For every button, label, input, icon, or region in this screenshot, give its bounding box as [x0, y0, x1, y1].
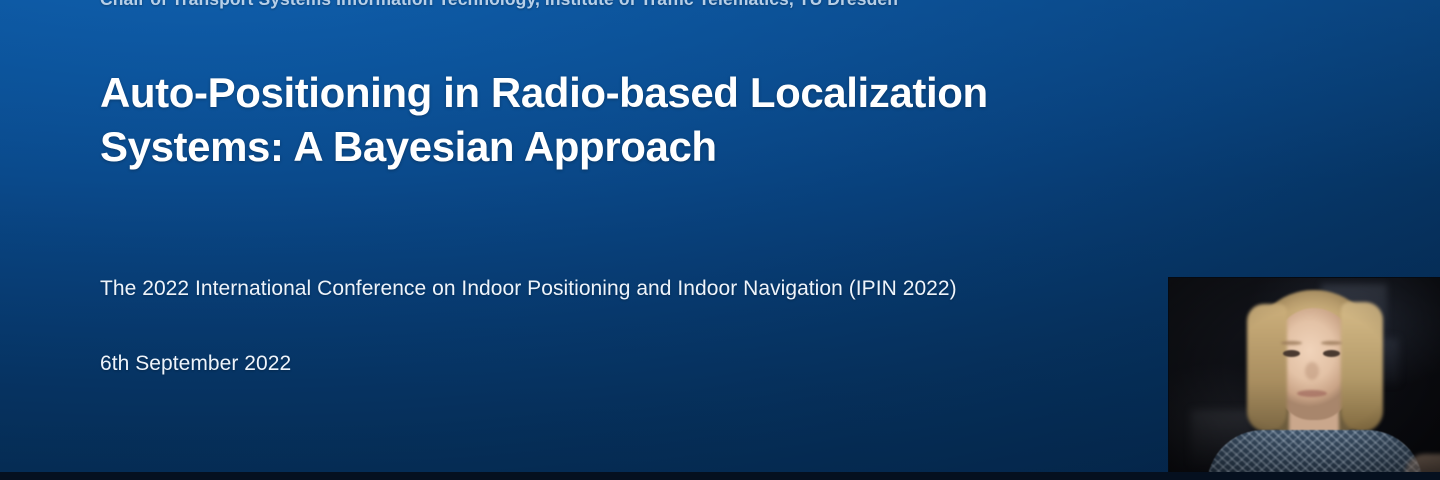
presenter-eye-left	[1283, 350, 1300, 357]
presentation-slide-viewport: Chair of Transport Systems Information T…	[0, 0, 1440, 480]
affiliation-line: Chair of Transport Systems Information T…	[100, 0, 1170, 10]
page-title-line-1: Auto-Positioning in Radio-based Localiza…	[100, 66, 1220, 120]
presenter-eye-right	[1323, 350, 1340, 357]
conference-name: The 2022 International Conference on Ind…	[100, 277, 957, 301]
presenter-webcam-panel[interactable]	[1168, 277, 1440, 480]
presenter-nose	[1305, 362, 1319, 380]
letterbox-bottom-bar	[0, 472, 1440, 480]
presenter-eyebrow-left	[1281, 341, 1302, 345]
presenter-eyebrow-right	[1321, 341, 1342, 345]
presentation-date: 6th September 2022	[100, 352, 291, 376]
presenter-hair-left-strand	[1247, 304, 1287, 432]
page-title: Auto-Positioning in Radio-based Localiza…	[100, 66, 1220, 174]
presenter-hair-right-strand	[1341, 302, 1383, 432]
page-title-line-2: Systems: A Bayesian Approach	[100, 120, 1220, 174]
presenter-mouth	[1297, 390, 1327, 397]
webcam-scene	[1169, 278, 1440, 480]
